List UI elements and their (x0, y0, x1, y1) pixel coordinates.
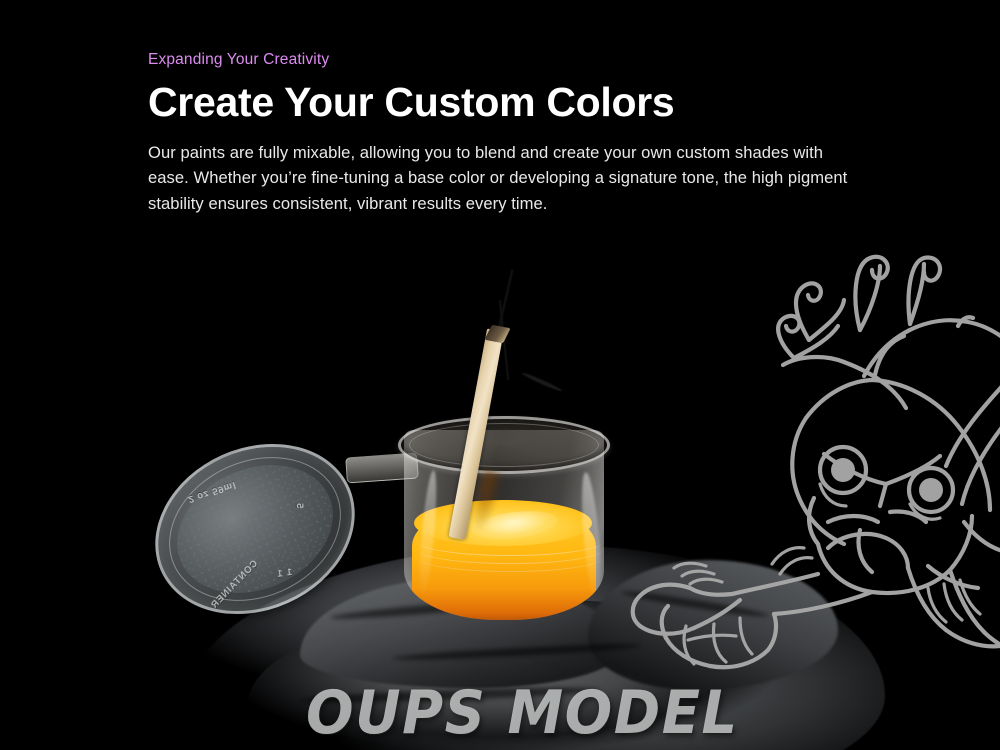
copy-block: Expanding Your Creativity Create Your Cu… (148, 50, 868, 216)
page-title: Create Your Custom Colors (148, 80, 868, 124)
lid-text-line: 2 oz 59ml (187, 479, 238, 505)
lid-text-line: 5 (294, 502, 305, 509)
stir-stick-tip (484, 325, 510, 343)
body-paragraph: Our paints are fully mixable, allowing y… (148, 140, 848, 216)
eyebrow-text: Expanding Your Creativity (148, 50, 868, 71)
lid-text-line: CONTAINER (209, 558, 261, 611)
watermark-oups-model: OUPS MODEL (306, 679, 739, 748)
dark-wisp (521, 371, 563, 393)
paint-cup (398, 408, 610, 620)
cup-rim-inner (409, 423, 599, 467)
cup-ridge (416, 542, 604, 572)
lid-text-line: 1 1 (276, 567, 293, 580)
promo-banner: 2 oz 59ml 5 CONTAINER 1 1 (0, 0, 1000, 750)
